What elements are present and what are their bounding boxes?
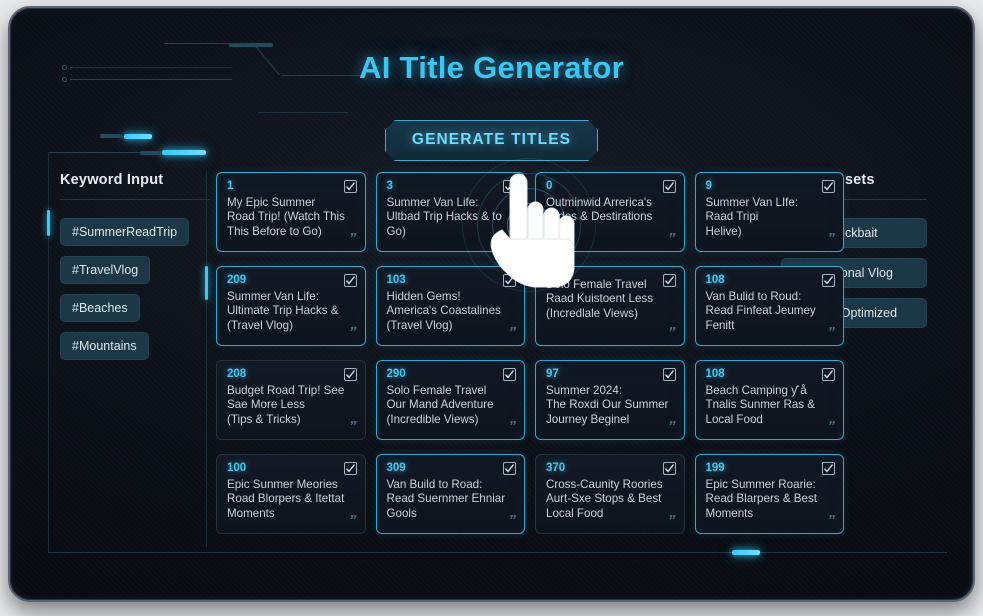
title-card-number: 97 <box>546 368 675 380</box>
title-card-text: Hidden Gems! America's Coastalines (Trav… <box>387 290 516 333</box>
title-card-number: 108 <box>706 274 835 286</box>
keyword-chip-0[interactable]: #SummerReadTrip <box>60 218 189 246</box>
title-card-text: Dolo Female Travel Raad Kuistoent Less (… <box>546 278 675 321</box>
title-card-text: Solo Female Travel Our Mand Adventure (I… <box>387 384 516 427</box>
title-card-text: Outminwid Arrerica's Iledes & Destiratio… <box>546 196 675 225</box>
title-card[interactable]: 208Budget Road Trip! See Sae More Less (… <box>216 360 366 440</box>
title-card-number: 309 <box>387 462 516 474</box>
page-title: AI Title Generator <box>14 50 969 86</box>
quote-mark-icon: ” <box>349 230 356 247</box>
hud-notch-line-e <box>258 112 348 113</box>
checkbox-checked-icon[interactable] <box>503 368 516 381</box>
title-card-text: Van Bulid to Roud: Read Finfeat Jeumey F… <box>706 290 835 333</box>
checkbox-checked-icon[interactable] <box>663 180 676 193</box>
title-card-text: Budget Road Trip! See Sae More Less (Tip… <box>227 384 356 427</box>
tablet-device-frame: AI Title Generator GENERATE TITLES Keywo… <box>8 6 975 602</box>
quote-mark-icon: ” <box>668 230 675 247</box>
title-card[interactable]: 209Summer Van Life: Ultimate Trip Hacks … <box>216 266 366 346</box>
hud-body-bottom <box>48 552 947 553</box>
title-card-number: 290 <box>387 368 516 380</box>
title-card-number: 199 <box>706 462 835 474</box>
keyword-input-heading: Keyword Input <box>60 172 210 188</box>
checkbox-checked-icon[interactable] <box>503 274 516 287</box>
title-card[interactable]: 1My Epic Summer Road Trip! (Watch This T… <box>216 172 366 252</box>
title-card[interactable]: 108Beach Camping ƴ å Tnalis Sunmer Ras &… <box>695 360 845 440</box>
title-card[interactable]: 370Cross-Caunity Roories Aurt-Sxe Stops … <box>535 454 685 534</box>
title-card[interactable]: 9Summer Van LIfe: Raad Tripi Helive)” <box>695 172 845 252</box>
quote-mark-icon: ” <box>509 512 516 529</box>
title-card[interactable]: 108Van Bulid to Roud: Read Finfeat Jeume… <box>695 266 845 346</box>
keyword-chip-2[interactable]: #Beaches <box>60 294 140 322</box>
title-card-number: 3 <box>387 180 516 192</box>
checkbox-checked-icon[interactable] <box>663 368 676 381</box>
title-card-number: 100 <box>227 462 356 474</box>
generate-button-wrap: GENERATE TITLES <box>14 120 969 161</box>
quote-mark-icon: ” <box>828 512 835 529</box>
title-card-text: Cross-Caunity Roories Aurt-Sxe Stops & B… <box>546 478 675 521</box>
quote-mark-icon: ” <box>828 324 835 341</box>
quote-mark-icon: ” <box>349 324 356 341</box>
quote-mark-icon: ” <box>668 418 675 435</box>
title-card[interactable]: 199Epic Summer Roarie: Read Blarpers & B… <box>695 454 845 534</box>
checkbox-checked-icon[interactable] <box>503 180 516 193</box>
title-card[interactable]: 100Epic Sunmer Meories Road Blorpers & I… <box>216 454 366 534</box>
title-card-text: My Epic Summer Road Trip! (Watch This Th… <box>227 196 356 239</box>
app-screen: AI Title Generator GENERATE TITLES Keywo… <box>14 12 969 596</box>
quote-mark-icon: ” <box>828 230 835 247</box>
title-card-number: 209 <box>227 274 356 286</box>
quote-mark-icon: ” <box>509 324 516 341</box>
hud-accent-bottom <box>732 550 760 555</box>
hud-accent-topleft <box>229 43 273 47</box>
checkbox-checked-icon[interactable] <box>663 274 676 287</box>
generate-titles-button[interactable]: GENERATE TITLES <box>385 120 598 161</box>
keyword-input-divider <box>60 199 210 200</box>
title-card-number: 1 <box>227 180 356 192</box>
title-card[interactable]: 3Summer Van Life: Ultbad Trip Hacks & to… <box>376 172 526 252</box>
checkbox-checked-icon[interactable] <box>822 462 835 475</box>
title-card-number: 108 <box>706 368 835 380</box>
checkbox-checked-icon[interactable] <box>503 462 516 475</box>
title-card-text: Summer Van Life: Ultbad Trip Hacks & to … <box>387 196 516 239</box>
quote-mark-icon: ” <box>349 418 356 435</box>
title-card-text: Summer 2024: The Roxdi Our Summer Journe… <box>546 384 675 427</box>
checkbox-checked-icon[interactable] <box>822 368 835 381</box>
hud-notch-line-a <box>164 43 252 44</box>
quote-mark-icon: ” <box>509 230 516 247</box>
title-results-grid: 1My Epic Summer Road Trip! (Watch This T… <box>216 172 844 534</box>
title-card[interactable]: 97Summer 2024: The Roxdi Our Summer Jour… <box>535 360 685 440</box>
checkbox-checked-icon[interactable] <box>663 462 676 475</box>
hud-frame-left <box>48 152 49 552</box>
quote-mark-icon: ” <box>668 512 675 529</box>
keyword-input-panel: Keyword Input #SummerReadTrip#TravelVlog… <box>60 172 210 360</box>
quote-mark-icon: ” <box>668 324 675 341</box>
checkbox-checked-icon[interactable] <box>822 180 835 193</box>
title-card[interactable]: 290Solo Female Travel Our Mand Adventure… <box>376 360 526 440</box>
title-card-number: 9 <box>706 180 835 192</box>
quote-mark-icon: ” <box>349 512 356 529</box>
quote-mark-icon: ” <box>828 418 835 435</box>
checkbox-checked-icon[interactable] <box>344 274 357 287</box>
checkbox-checked-icon[interactable] <box>344 368 357 381</box>
title-card-number: 0 <box>546 180 675 192</box>
title-card-text: Summer Van Life: Ultimate Trip Hacks & (… <box>227 290 356 333</box>
title-card[interactable]: Dolo Female Travel Raad Kuistoent Less (… <box>535 266 685 346</box>
checkbox-checked-icon[interactable] <box>822 274 835 287</box>
title-card-number: 103 <box>387 274 516 286</box>
title-card-number: 370 <box>546 462 675 474</box>
checkbox-checked-icon[interactable] <box>344 462 357 475</box>
title-card-text: Beach Camping ƴ å Tnalis Sunmer Ras & Lo… <box>706 384 835 427</box>
title-card-text: Epic Sunmer Meories Road Blorpers & Itet… <box>227 478 356 521</box>
keyword-chip-3[interactable]: #Mountains <box>60 332 149 360</box>
keyword-chip-1[interactable]: #TravelVlog <box>60 256 150 284</box>
checkbox-checked-icon[interactable] <box>344 180 357 193</box>
title-card[interactable]: 0Outminwid Arrerica's Iledes & Destirati… <box>535 172 685 252</box>
quote-mark-icon: ” <box>509 418 516 435</box>
title-card-text: Epic Summer Roarie: Read Blarpers & Best… <box>706 478 835 521</box>
title-card-number: 208 <box>227 368 356 380</box>
title-card[interactable]: 309Van Build to Road: Read Suernmer Ehni… <box>376 454 526 534</box>
keyword-chip-list: #SummerReadTrip#TravelVlog#Beaches#Mount… <box>60 218 210 360</box>
title-card-text: Van Build to Road: Read Suernmer Ehniar … <box>387 478 516 521</box>
title-card[interactable]: 103Hidden Gems! America's Coastalines (T… <box>376 266 526 346</box>
title-card-text: Summer Van LIfe: Raad Tripi Helive) <box>706 196 835 239</box>
frame-accent-left <box>47 210 50 236</box>
